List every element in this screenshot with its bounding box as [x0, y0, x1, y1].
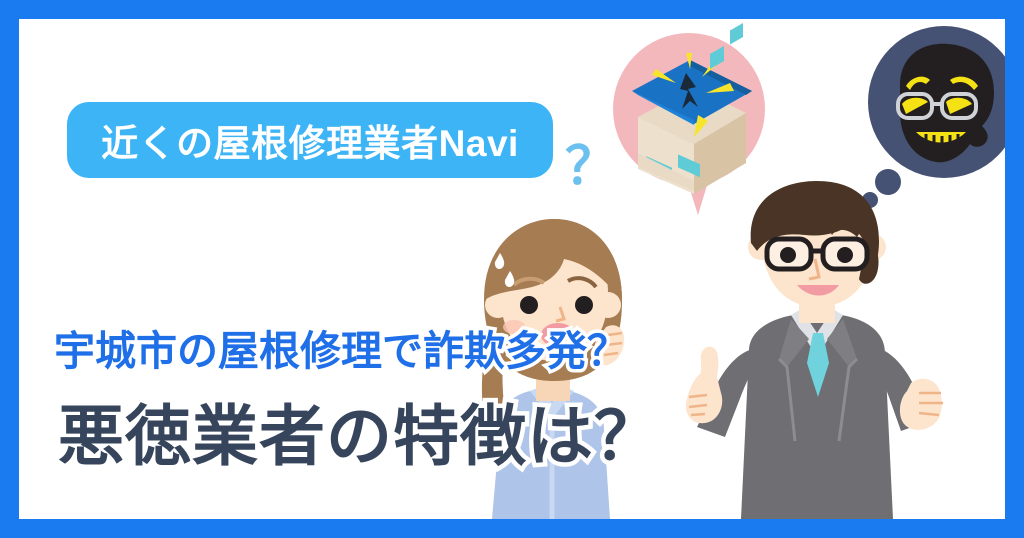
banner-headline: 悪徳業者の特徴は？	[58, 383, 661, 479]
site-name-badge[interactable]: 近くの屋根修理業者Navi	[67, 102, 553, 178]
suited-man-pointing-illustration	[687, 181, 949, 519]
banner-white-panel: 近くの屋根修理業者Navi ？ 宇城市の屋根修理で詐欺多発？ 悪徳業者の特徴は？	[19, 19, 1005, 519]
site-name-badge-label: 近くの屋根修理業者Navi	[101, 113, 519, 167]
banner-subtitle: 宇城市の屋根修理で詐欺多発？	[54, 317, 628, 377]
banner-canvas: 近くの屋根修理業者Navi ？ 宇城市の屋根修理で詐欺多発？ 悪徳業者の特徴は？	[0, 0, 1024, 538]
